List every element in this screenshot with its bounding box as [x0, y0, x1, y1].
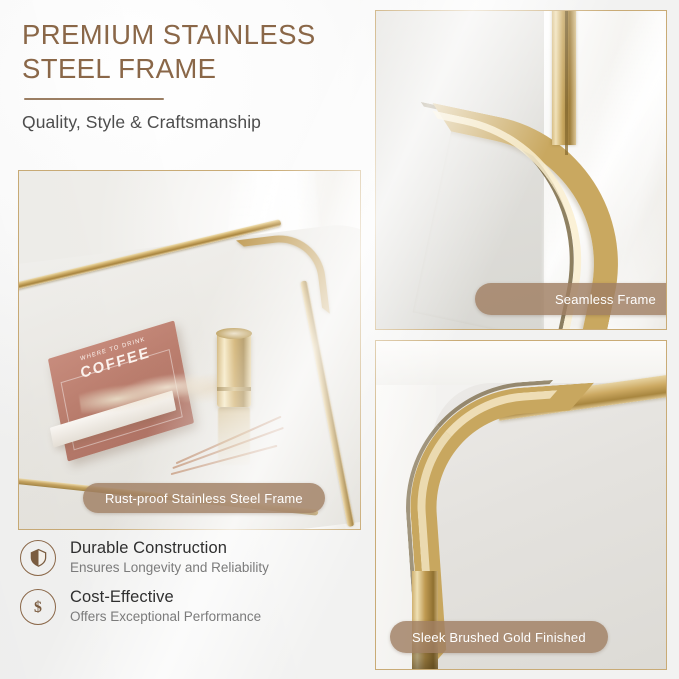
- feature-subtitle: Offers Exceptional Performance: [70, 608, 261, 626]
- gold-candle-holder: [217, 333, 251, 407]
- label-pill-rust-proof: Rust-proof Stainless Steel Frame: [83, 483, 325, 513]
- mirror-tray-image: WHERE TO DRINK COFFEE: [19, 171, 360, 529]
- frame-rail-vertical: [552, 11, 576, 145]
- panel-seamless-frame-photo: Seamless Frame: [375, 10, 667, 330]
- label-pill-text: Rust-proof Stainless Steel Frame: [105, 491, 303, 506]
- feature-list: Durable Construction Ensures Longevity a…: [20, 538, 365, 636]
- label-pill-text: Seamless Frame: [555, 292, 656, 307]
- dollar-sign-icon: $: [20, 589, 56, 625]
- label-pill-brushed-gold: Sleek Brushed Gold Finished: [390, 621, 608, 653]
- candle-holder-band: [217, 387, 251, 391]
- feature-text: Durable Construction Ensures Longevity a…: [70, 538, 269, 577]
- wall-top: [376, 341, 666, 385]
- frame-seam-line: [565, 11, 568, 155]
- header-block: PREMIUM STAINLESS STEEL FRAME Quality, S…: [22, 18, 382, 133]
- label-pill-seamless-frame: Seamless Frame: [475, 283, 667, 315]
- panel-mirror-tray-photo: WHERE TO DRINK COFFEE Rust-proof Stainle…: [18, 170, 361, 530]
- candle-reflection: [218, 407, 250, 465]
- feature-item-durable-construction: Durable Construction Ensures Longevity a…: [20, 538, 365, 577]
- panel-brushed-gold-photo: Sleek Brushed Gold Finished: [375, 340, 667, 670]
- feature-subtitle: Ensures Longevity and Reliability: [70, 559, 269, 577]
- seamless-frame-image: [376, 11, 666, 329]
- candle-holder-rim: [216, 328, 252, 339]
- feature-title: Durable Construction: [70, 538, 269, 558]
- infographic-root: PREMIUM STAINLESS STEEL FRAME Quality, S…: [0, 0, 679, 679]
- page-title: PREMIUM STAINLESS STEEL FRAME: [22, 18, 382, 86]
- shield-icon: [20, 540, 56, 576]
- svg-text:$: $: [34, 599, 42, 616]
- label-pill-text: Sleek Brushed Gold Finished: [412, 630, 586, 645]
- page-subtitle: Quality, Style & Craftsmanship: [22, 111, 382, 133]
- title-divider: [24, 98, 164, 100]
- page-title-line-1: PREMIUM STAINLESS: [22, 19, 316, 50]
- feature-text: Cost-Effective Offers Exceptional Perfor…: [70, 587, 261, 626]
- page-title-line-2: STEEL FRAME: [22, 53, 216, 84]
- feature-item-cost-effective: $ Cost-Effective Offers Exceptional Perf…: [20, 587, 365, 626]
- feature-title: Cost-Effective: [70, 587, 261, 607]
- brushed-gold-image: [376, 341, 666, 669]
